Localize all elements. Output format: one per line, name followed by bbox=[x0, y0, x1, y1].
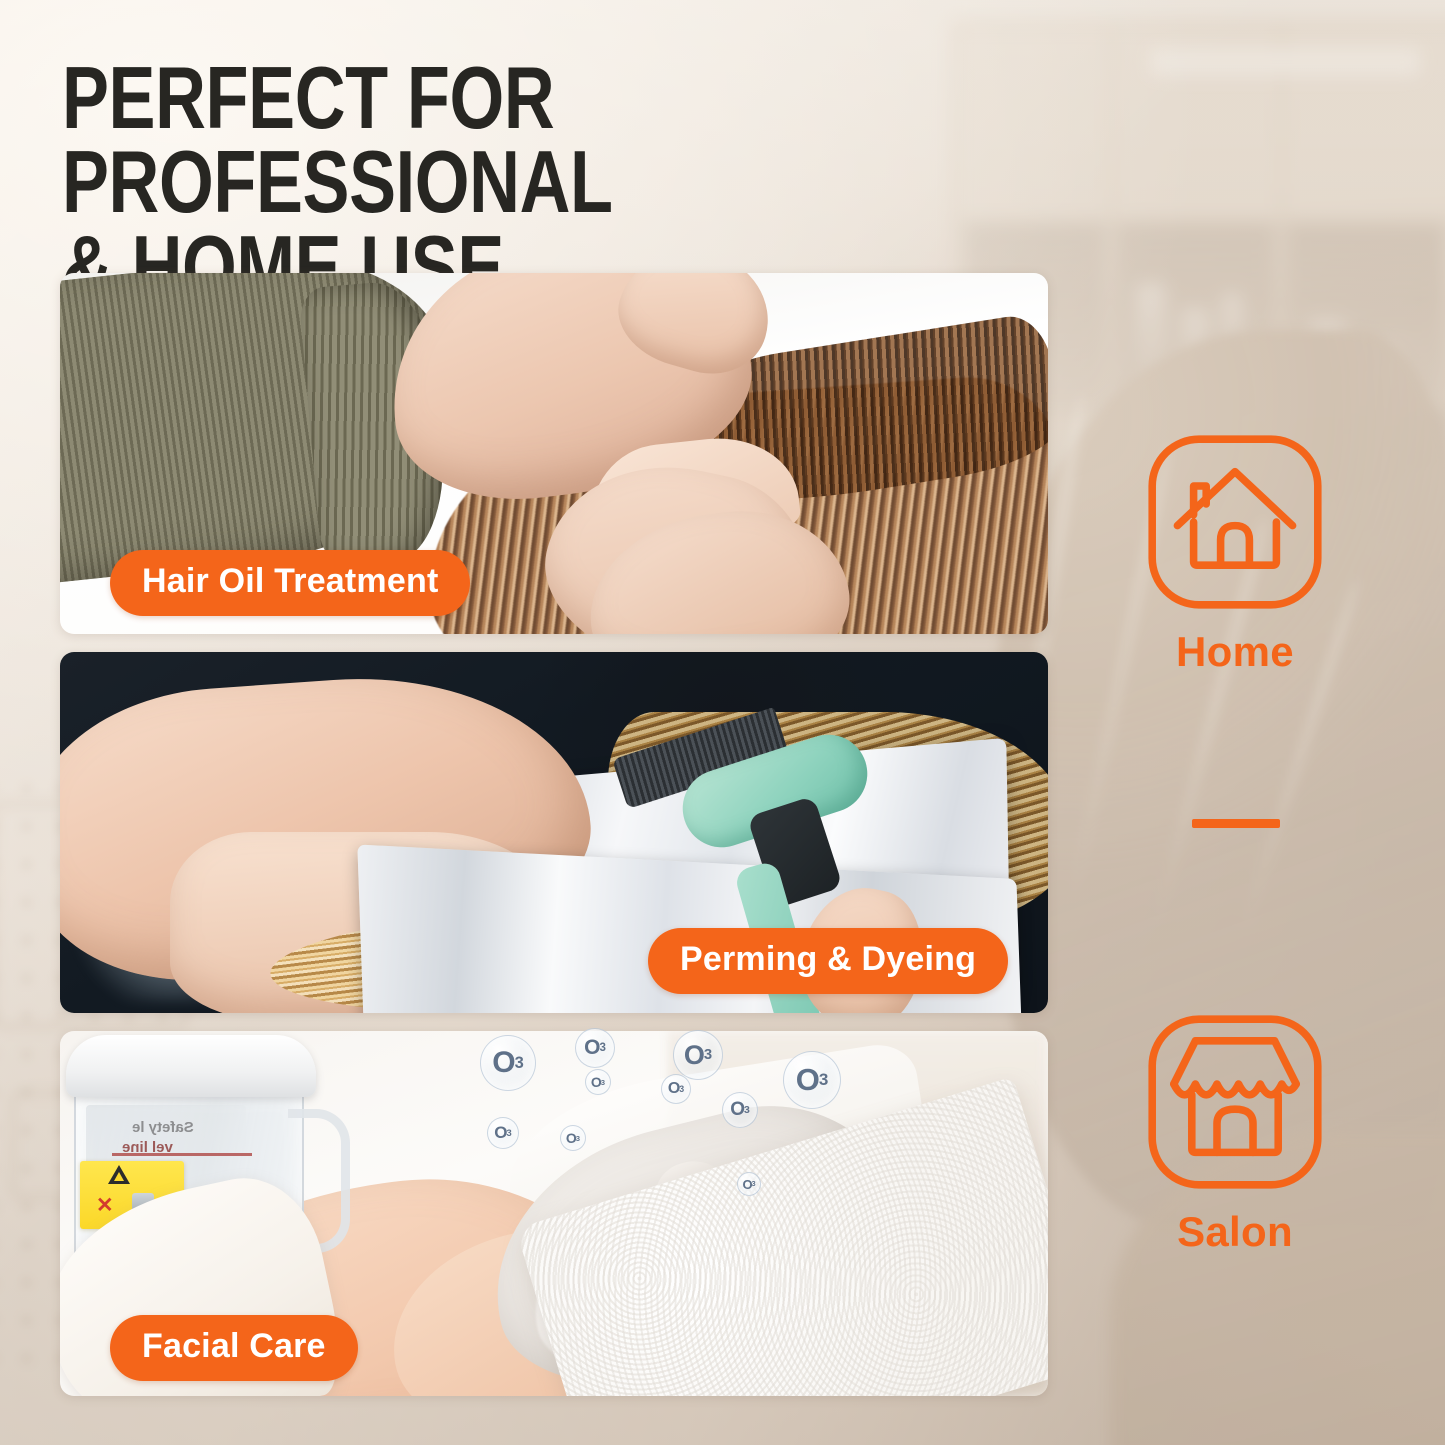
prohibition-x-icon: ✕ bbox=[96, 1195, 114, 1216]
device-lid bbox=[66, 1035, 316, 1097]
page-title: PERFECT FOR PROFESSIONAL & HOME USE bbox=[62, 56, 918, 309]
badge-facial-care[interactable]: Facial Care bbox=[110, 1315, 358, 1381]
usecase-divider bbox=[1192, 819, 1280, 828]
usecase-home-label: Home bbox=[1110, 628, 1360, 676]
badge-perming-dyeing[interactable]: Perming & Dyeing bbox=[648, 928, 1008, 994]
storefront-awning-icon bbox=[1145, 1012, 1325, 1192]
usecase-salon-label: Salon bbox=[1110, 1208, 1360, 1256]
badge-hair-oil-treatment[interactable]: Hair Oil Treatment bbox=[110, 550, 470, 616]
device-label-safety-line: vel line bbox=[122, 1139, 173, 1156]
poster-canvas: PERFECT FOR PROFESSIONAL & HOME USE Hair… bbox=[0, 0, 1445, 1445]
house-outline-icon bbox=[1145, 432, 1325, 612]
usecase-salon[interactable]: Salon bbox=[1110, 1012, 1360, 1256]
warning-triangle-icon bbox=[108, 1165, 130, 1184]
device-label-safety-level: Safety le bbox=[132, 1119, 194, 1136]
usecase-home[interactable]: Home bbox=[1110, 432, 1360, 676]
